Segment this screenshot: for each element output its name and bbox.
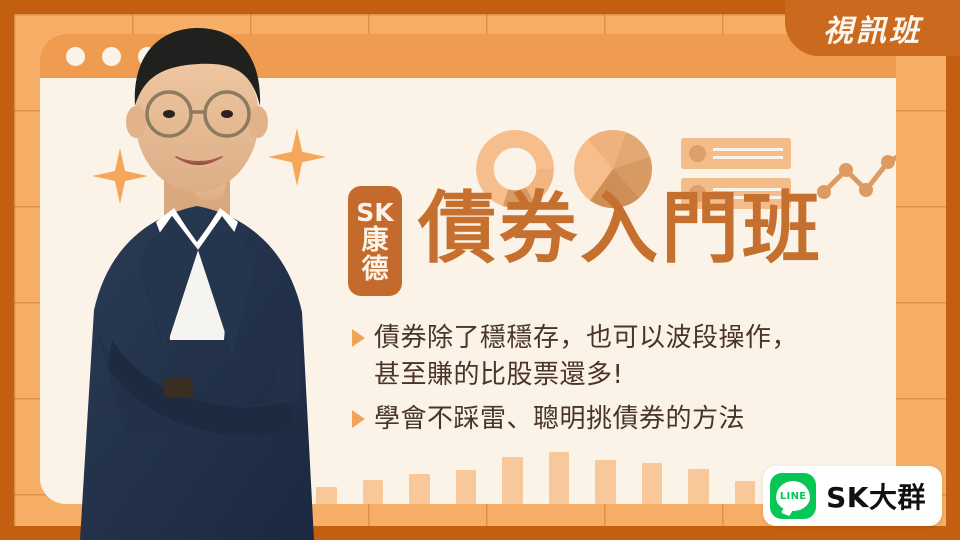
title-row: SK 康 德 債券入門班 <box>348 186 823 296</box>
brand-badge-sk-kangde: SK 康 德 <box>348 186 402 296</box>
avatar-circle-icon <box>689 145 706 162</box>
brand-badge-char-1: 康 <box>362 226 389 255</box>
page-title: 債券入門班 <box>418 190 823 268</box>
triangle-right-icon <box>352 410 365 428</box>
line-logo-icon: LINE <box>770 473 816 519</box>
list-item: 債券除了穩穩存，也可以波段操作， 甚至賺的比股票還多! <box>352 320 823 394</box>
promo-banner: 視訊班 <box>0 0 960 540</box>
brand-badge-char-2: 德 <box>362 255 389 284</box>
headline-block: SK 康 德 債券入門班 債券除了穩穩存，也可以波段操作， 甚至賺的比股票還多!… <box>348 186 823 445</box>
line-logo-label: LINE <box>780 491 807 502</box>
brand-badge-latin: SK <box>356 200 393 226</box>
instructor-photo <box>52 10 342 540</box>
bullet-text: 債券除了穩穩存，也可以波段操作， 甚至賺的比股票還多! <box>374 320 798 394</box>
text-line <box>713 148 783 151</box>
line-bubble-icon: LINE <box>776 481 810 511</box>
corner-badge-label: 視訊班 <box>823 6 922 50</box>
list-item: 學會不踩雷、聰明挑債券的方法 <box>352 401 823 438</box>
text-line <box>713 156 783 159</box>
triangle-right-icon <box>352 329 365 347</box>
line-chart-icon <box>816 142 896 202</box>
bullet-text: 學會不踩雷、聰明挑債券的方法 <box>374 401 745 438</box>
line-group-badge[interactable]: LINE SK大群 <box>763 466 942 526</box>
bullet-list: 債券除了穩穩存，也可以波段操作， 甚至賺的比股票還多! 學會不踩雷、聰明挑債券的… <box>352 320 823 438</box>
list-card-icon <box>681 138 791 169</box>
corner-badge-video-class: 視訊班 <box>785 0 960 56</box>
line-group-label: SK大群 <box>826 476 926 516</box>
